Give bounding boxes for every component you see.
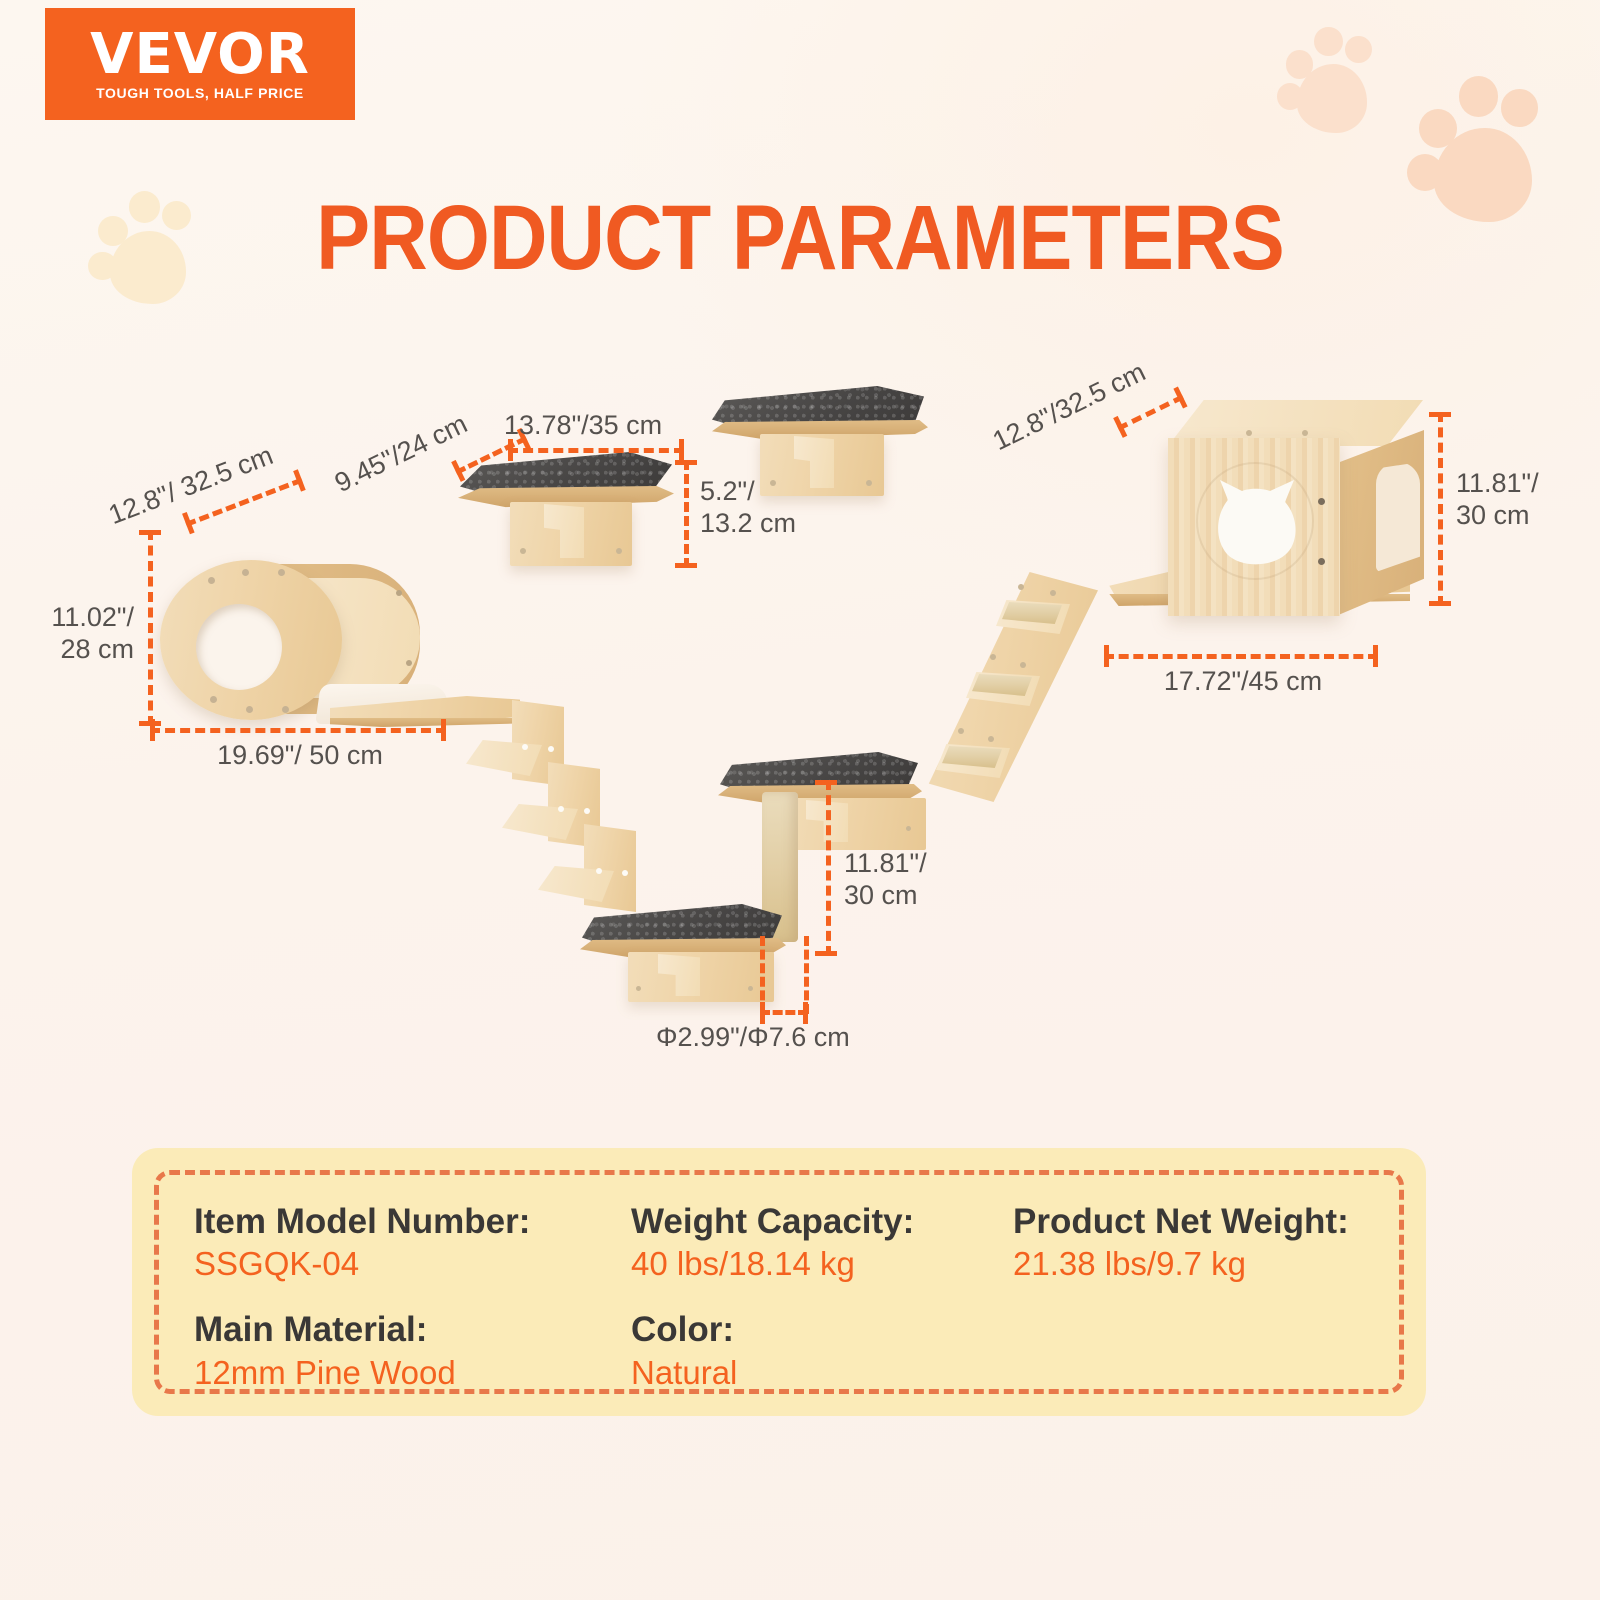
spec-color: Color: Natural <box>631 1308 1013 1394</box>
spec-row: Main Material: 12mm Pine Wood Color: Nat… <box>194 1308 1386 1394</box>
spec-item-model-number: Item Model Number: SSGQK-04 <box>194 1200 631 1286</box>
spec-row: Item Model Number: SSGQK-04 Weight Capac… <box>194 1200 1386 1286</box>
cat-staircase <box>450 700 680 920</box>
spec-value: 40 lbs/18.14 kg <box>631 1243 1013 1286</box>
spec-weight-capacity: Weight Capacity: 40 lbs/18.14 kg <box>631 1200 1013 1286</box>
dim-tunnel-height <box>148 530 152 726</box>
dim-shelf-width <box>508 448 684 452</box>
spec-value: 21.38 lbs/9.7 kg <box>1013 1243 1349 1286</box>
dim-house-depth-label: 12.8"/32.5 cm <box>988 357 1151 458</box>
spec-value: Natural <box>631 1352 1013 1395</box>
dim-post-diameter-label: Φ2.99"/Φ7.6 cm <box>656 1022 850 1054</box>
dim-shelf-height <box>684 460 688 568</box>
brand-name: VEVOR <box>90 27 310 83</box>
dim-house-height-label: 11.81"/ 30 cm <box>1456 468 1539 532</box>
dim-shelf-width-label: 13.78"/35 cm <box>504 410 662 442</box>
vevor-logo: VEVOR TOUGH TOOLS, HALF PRICE <box>45 8 355 120</box>
specifications-panel: Item Model Number: SSGQK-04 Weight Capac… <box>132 1148 1426 1416</box>
spec-main-material: Main Material: 12mm Pine Wood <box>194 1308 631 1394</box>
dim-post-height <box>826 780 830 956</box>
product-illustration: 12.8"/ 32.5 cm 11.02"/ 28 cm 19.69"/ 50 … <box>0 300 1600 1120</box>
spec-label: Product Net Weight: <box>1013 1200 1349 1243</box>
brand-tagline: TOUGH TOOLS, HALF PRICE <box>96 85 304 101</box>
spec-product-net-weight: Product Net Weight: 21.38 lbs/9.7 kg <box>1013 1200 1349 1286</box>
dim-house-width-label: 17.72"/45 cm <box>1104 666 1382 698</box>
dim-house-width <box>1104 654 1378 658</box>
page-title: PRODUCT PARAMETERS <box>96 186 1504 291</box>
dim-tunnel-width-label: 19.69"/ 50 cm <box>150 740 450 772</box>
spec-label: Color: <box>631 1308 1013 1351</box>
dim-shelf-height-label: 5.2"/ 13.2 cm <box>700 476 796 540</box>
dim-post-height-label: 11.81"/ 30 cm <box>844 848 927 912</box>
cat-house <box>1168 400 1423 616</box>
dim-post-diameter <box>760 936 808 1014</box>
spec-value: 12mm Pine Wood <box>194 1352 631 1395</box>
dim-tunnel-width <box>150 728 446 732</box>
cat-ramp-ladder <box>918 572 1098 802</box>
dim-tunnel-depth-label: 12.8"/ 32.5 cm <box>105 440 278 532</box>
spec-value: SSGQK-04 <box>194 1243 631 1286</box>
paw-print-icon <box>1277 22 1387 140</box>
dim-tunnel-height-label: 11.02"/ 28 cm <box>22 602 134 666</box>
scratching-post-top-platform <box>718 752 930 862</box>
dim-house-height <box>1438 412 1442 606</box>
spec-label: Weight Capacity: <box>631 1200 1013 1243</box>
spec-label: Item Model Number: <box>194 1200 631 1243</box>
spec-label: Main Material: <box>194 1308 631 1351</box>
carpet-shelf-left <box>440 452 680 580</box>
